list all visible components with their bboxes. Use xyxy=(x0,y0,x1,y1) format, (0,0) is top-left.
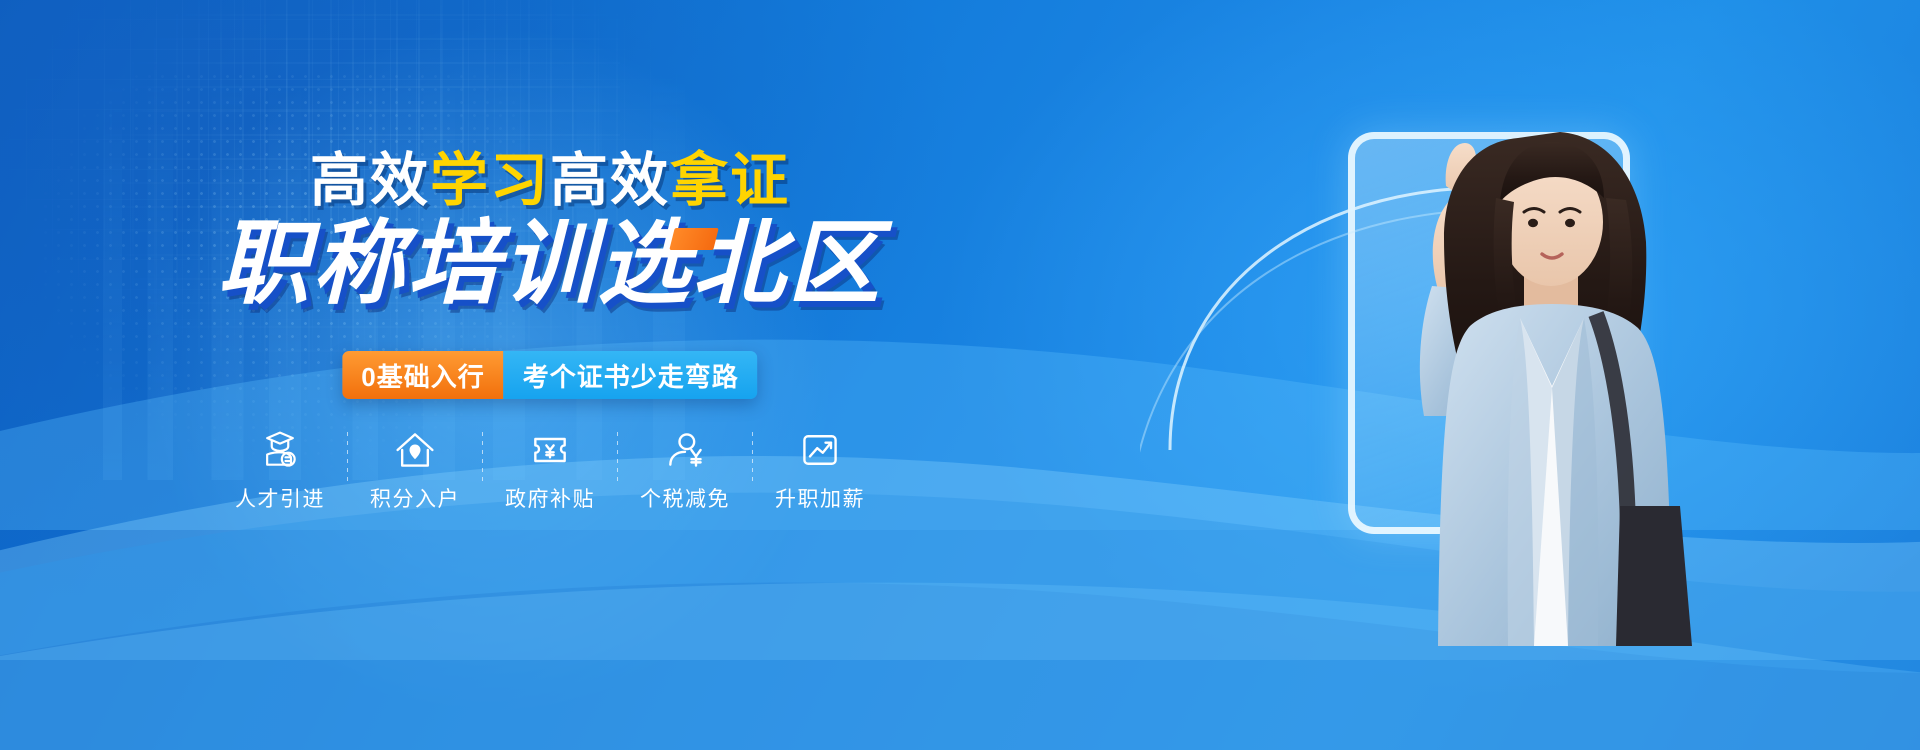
graduate-person-icon xyxy=(258,428,302,472)
banner-content: 高效学习高效拿证 职称培训选北区 0基础入行 考个证书少走弯路 人才引 xyxy=(0,0,1100,750)
feature-label: 升职加薪 xyxy=(775,483,865,513)
promo-banner: 高效学习高效拿证 职称培训选北区 0基础入行 考个证书少走弯路 人才引 xyxy=(0,0,1920,750)
headline-secondary: 高效学习高效拿证 xyxy=(0,152,1100,210)
feature-item-talent-intro[interactable]: 人才引进 xyxy=(213,428,347,513)
pill-left-label: 0基础入行 xyxy=(342,351,503,399)
headline-seg-2: 学习 xyxy=(430,148,550,213)
feature-label: 人才引进 xyxy=(235,483,325,513)
orange-accent-slab xyxy=(669,228,718,250)
headline-primary: 职称培训选北区 xyxy=(0,218,1100,310)
feature-label: 积分入户 xyxy=(370,483,460,513)
tagline-pill: 0基础入行 考个证书少走弯路 xyxy=(342,351,757,399)
house-pin-icon xyxy=(393,428,437,472)
feature-item-gov-subsidy[interactable]: 政府补贴 xyxy=(483,428,617,513)
pill-right-label: 考个证书少走弯路 xyxy=(504,351,758,399)
feature-item-promotion-raise[interactable]: 升职加薪 xyxy=(753,428,887,513)
growth-chart-icon xyxy=(798,428,842,472)
feature-item-tax-reduction[interactable]: 个税减免 xyxy=(618,428,752,513)
headline-seg-4: 拿证 xyxy=(670,148,790,213)
subject-area xyxy=(1020,0,1920,750)
person-yuan-icon xyxy=(663,428,707,472)
feature-list: 人才引进 积分入户 xyxy=(0,428,1100,513)
feature-label: 政府补贴 xyxy=(505,483,595,513)
headline-seg-1: 高效 xyxy=(310,148,430,213)
ticket-yuan-icon xyxy=(528,428,572,472)
headline-seg-3: 高效 xyxy=(550,148,670,213)
feature-item-points-residency[interactable]: 积分入户 xyxy=(348,428,482,513)
feature-label: 个税减免 xyxy=(640,483,730,513)
presenter-photo xyxy=(1320,86,1740,646)
